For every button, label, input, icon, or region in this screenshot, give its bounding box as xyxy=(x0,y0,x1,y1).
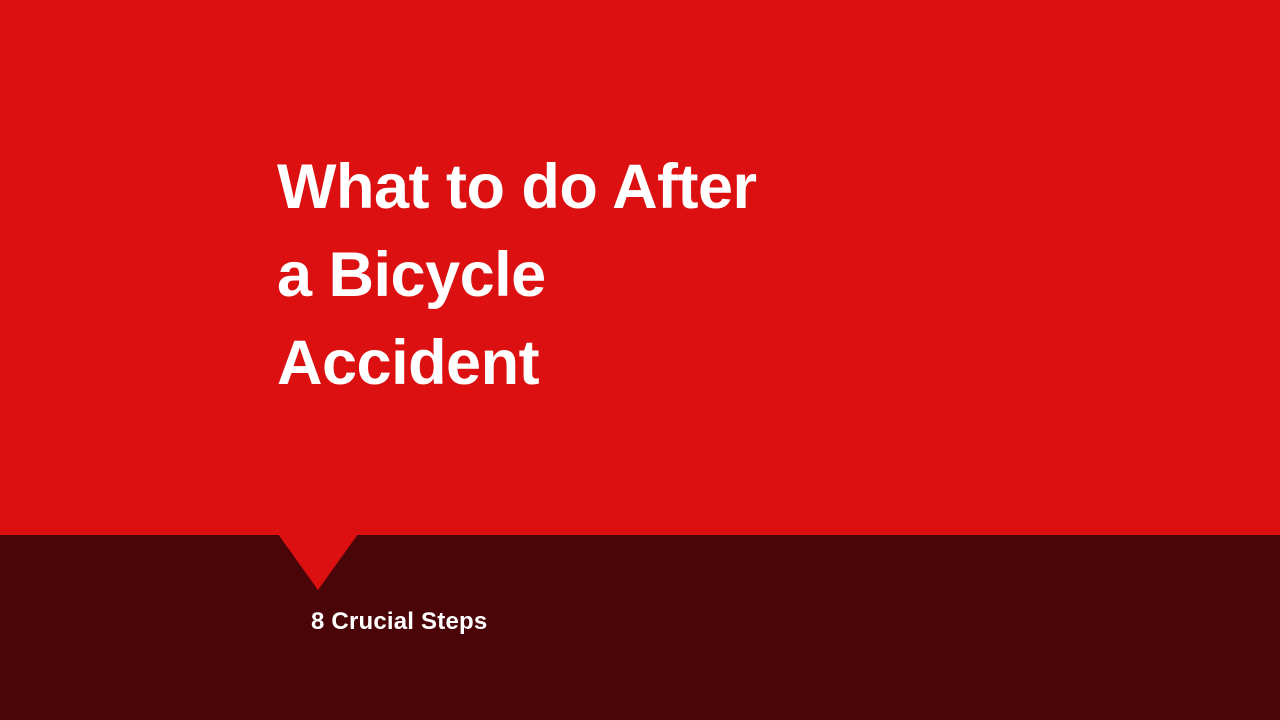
title-slide: What to do After a Bicycle Accident 8 Cr… xyxy=(0,0,1280,720)
slide-subtitle: 8 Crucial Steps xyxy=(311,608,487,636)
page-title: What to do After a Bicycle Accident xyxy=(277,143,1137,407)
speech-bubble-pointer xyxy=(278,534,358,590)
title-line-1: What to do After xyxy=(277,143,1137,231)
title-line-3: Accident xyxy=(277,319,1137,407)
title-line-2: a Bicycle xyxy=(277,231,1137,319)
